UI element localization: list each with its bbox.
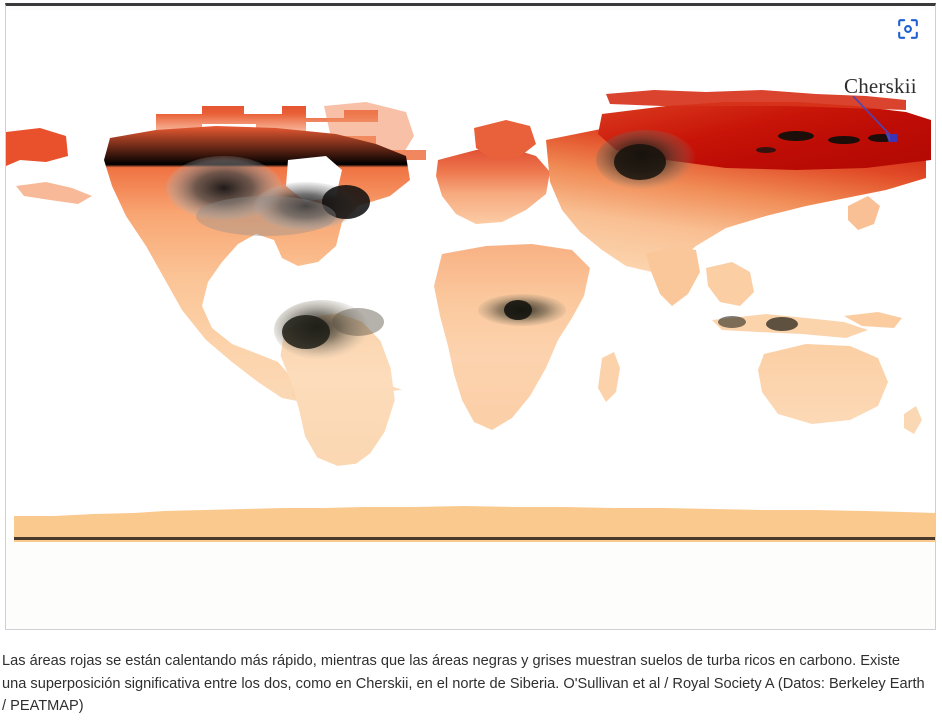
peat-borneo: [766, 317, 798, 331]
peat-canada-grey: [196, 196, 336, 236]
landmass-aleutians: [16, 182, 92, 204]
peat-west-siberia-core: [614, 144, 666, 180]
peat-amazon-east: [332, 308, 384, 336]
scan-focus-icon: [896, 17, 920, 41]
map-svg: [6, 10, 935, 542]
figure-panel: Cherskii 0 0.07 °C yr−1: [5, 3, 936, 630]
map-bottom-axis-rule: [14, 537, 935, 540]
map-canvas: Cherskii: [6, 10, 935, 542]
landmass-new-zealand: [904, 406, 922, 434]
landmass-africa: [434, 244, 590, 430]
peat-sumatra: [718, 316, 746, 328]
screenshot-root: Cherskii 0 0.07 °C yr−1: [0, 0, 942, 725]
landmass-southeast-asia: [706, 262, 754, 306]
figure-caption: Las áreas rojas se están calentando más …: [2, 650, 926, 718]
cherskii-annotation-arrow: [851, 96, 911, 148]
colorbar: 0 0.07 °C yr−1: [6, 551, 936, 630]
scan-focus-button[interactable]: [885, 6, 931, 52]
cherskii-marker: [890, 134, 897, 142]
peat-congo-core: [504, 300, 532, 320]
landmass-australia: [758, 344, 888, 424]
peat-east-siberia-d: [756, 147, 776, 153]
landmass-alaska: [6, 128, 68, 166]
world-warming-map: Cherskii: [6, 10, 935, 542]
landmass-japan: [848, 196, 880, 230]
landmass-madagascar: [598, 352, 620, 402]
peat-amazon-core: [282, 315, 330, 349]
peat-east-siberia-a: [778, 131, 814, 141]
landmass-india: [646, 246, 700, 306]
